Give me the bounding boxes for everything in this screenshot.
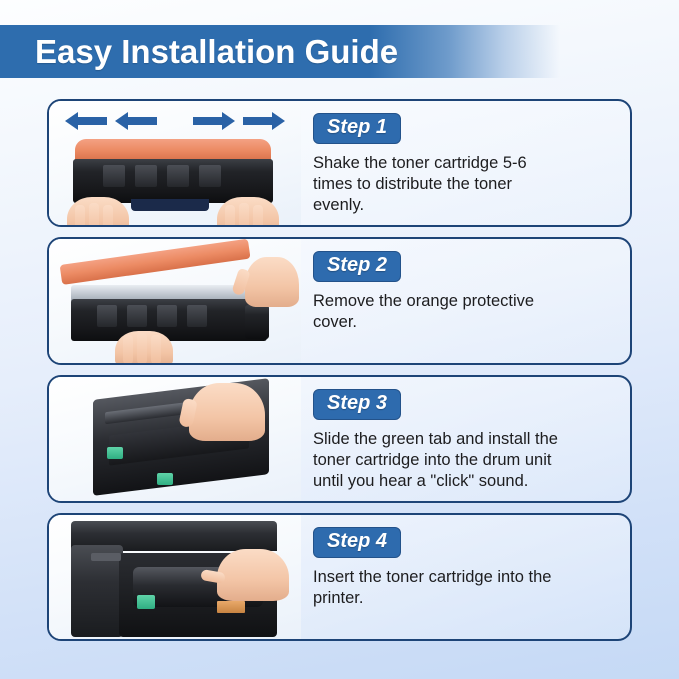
step-panel-2: Step 2 Remove the orange protective cove… xyxy=(47,237,632,365)
arrow-right-icon xyxy=(193,111,235,131)
finger xyxy=(75,205,85,225)
step-badge: Step 4 xyxy=(313,527,401,558)
cartridge-rib xyxy=(103,165,125,187)
right-hand xyxy=(189,383,265,441)
printer-control-panel xyxy=(91,553,121,561)
step-badge: Step 2 xyxy=(313,251,401,282)
arrow-left-icon xyxy=(65,111,107,131)
step-1-text-column: Step 1 Shake the toner cartridge 5-6 tim… xyxy=(301,101,630,225)
step-panel-4: Step 4 Insert the toner cartridge into t… xyxy=(47,513,632,641)
cartridge-rib xyxy=(167,165,189,187)
step-description: Remove the orange protective cover. xyxy=(313,291,616,333)
right-hand-lifting-cover xyxy=(245,257,299,307)
cartridge-rib xyxy=(187,305,207,327)
step-4-text-column: Step 4 Insert the toner cartridge into t… xyxy=(301,515,630,639)
cartridge-rib xyxy=(97,305,117,327)
green-tab xyxy=(137,595,155,609)
green-tab xyxy=(107,447,123,459)
cartridge-rib xyxy=(127,305,147,327)
step-3-text-column: Step 3 Slide the green tab and install t… xyxy=(301,377,630,501)
step-description: Insert the toner cartridge into the prin… xyxy=(313,567,616,609)
step-2-text-column: Step 2 Remove the orange protective cove… xyxy=(301,239,630,363)
cartridge-handle xyxy=(131,199,209,211)
finger xyxy=(253,205,263,225)
finger xyxy=(89,203,99,225)
cartridge-rib xyxy=(199,165,221,187)
toner-cartridge-shake-photo xyxy=(49,101,301,225)
header-banner: Easy Installation Guide xyxy=(0,25,560,78)
step-panel-1: Step 1 Shake the toner cartridge 5-6 tim… xyxy=(47,99,632,227)
printer-insert-cartridge-photo xyxy=(49,515,301,639)
toner-cartridge-remove-cover-photo xyxy=(49,239,301,363)
arrow-right-icon xyxy=(243,111,285,131)
cartridge-rib xyxy=(157,305,177,327)
contact-chip xyxy=(217,601,245,613)
cartridge-end-cap xyxy=(245,305,269,339)
page-title: Easy Installation Guide xyxy=(0,33,398,71)
finger xyxy=(123,335,133,363)
finger xyxy=(103,205,113,225)
orange-protective-cover xyxy=(75,139,271,161)
drum-unit-install-photo xyxy=(49,377,301,501)
finger xyxy=(151,335,161,363)
step-description: Slide the green tab and install the tone… xyxy=(313,429,616,492)
cartridge-rib xyxy=(135,165,157,187)
step-description: Shake the toner cartridge 5-6 times to d… xyxy=(313,153,616,216)
finger xyxy=(225,205,235,225)
arrow-left-icon xyxy=(115,111,157,131)
finger xyxy=(137,333,147,363)
right-hand xyxy=(217,549,289,601)
green-tab xyxy=(157,473,173,485)
step-badge: Step 3 xyxy=(313,389,401,420)
shake-arrows xyxy=(59,109,291,131)
step-badge: Step 1 xyxy=(313,113,401,144)
step-panel-3: Step 3 Slide the green tab and install t… xyxy=(47,375,632,503)
finger xyxy=(239,203,249,225)
